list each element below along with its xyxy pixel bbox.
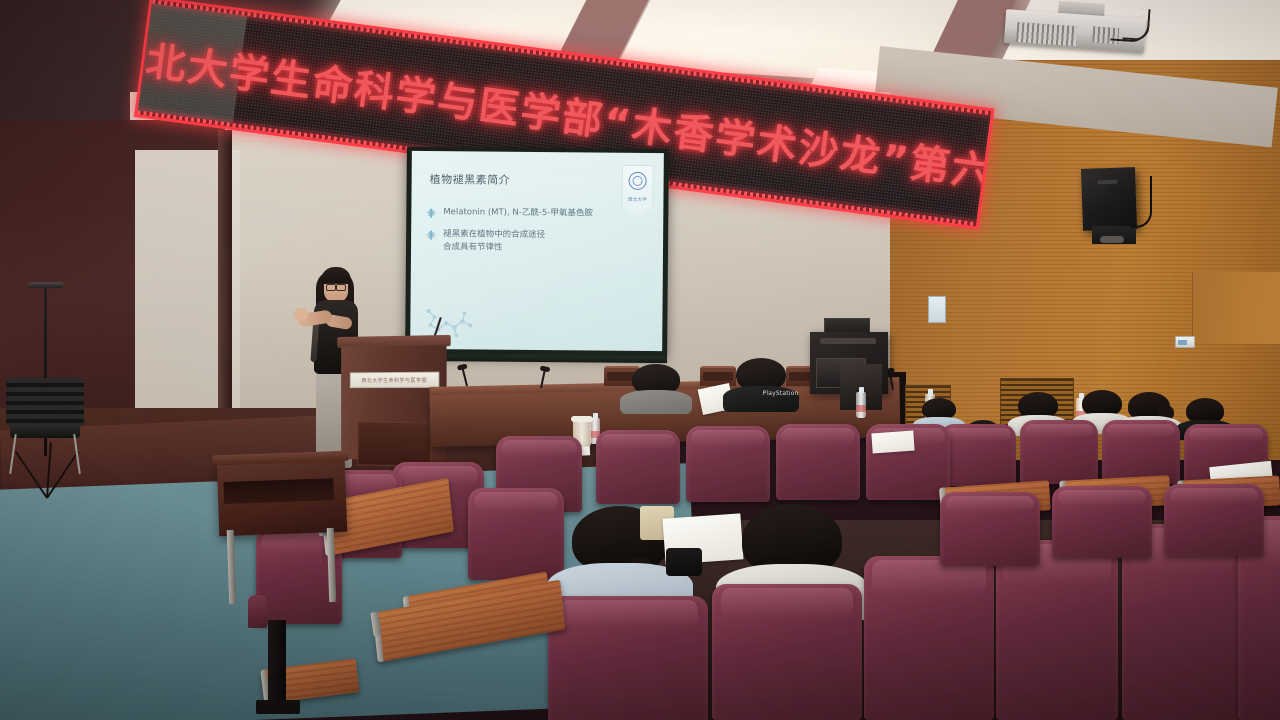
auditorium-seat-foreground[interactable] bbox=[548, 596, 708, 720]
speaker-mount-bracket bbox=[1092, 226, 1136, 244]
audience-member: PlayStation bbox=[736, 358, 786, 412]
wall-speaker-icon bbox=[1081, 167, 1137, 231]
person-shoulders: PlayStation bbox=[723, 386, 799, 412]
seat-top-band bbox=[1025, 424, 1094, 438]
side-table bbox=[217, 458, 348, 536]
seat-backrest bbox=[596, 430, 680, 504]
asterisk-bullet-icon bbox=[425, 207, 436, 218]
bullet-line: Melatonin (MT), N-乙酰-5-甲氧基色胺 bbox=[443, 206, 593, 220]
auditorium-seat-foreground[interactable] bbox=[712, 584, 862, 720]
water-bottle[interactable] bbox=[856, 392, 866, 418]
bullet-lines: Melatonin (MT), N-乙酰-5-甲氧基色胺 bbox=[443, 206, 593, 220]
auditorium-seat-foreground[interactable] bbox=[864, 556, 994, 720]
seat-top-band bbox=[781, 428, 855, 445]
seat-armrest bbox=[248, 595, 267, 628]
seat-backrest bbox=[864, 556, 994, 720]
speaker-port bbox=[1097, 180, 1117, 185]
slide-bullet-item: 褪黑素在植物中的合成途径 合成具有节律性 bbox=[425, 228, 653, 256]
wall-notice-sheet bbox=[928, 296, 946, 323]
side-table-shelf bbox=[223, 478, 334, 504]
seat-backrest bbox=[686, 426, 770, 502]
seat-top-band bbox=[1107, 424, 1176, 438]
seat-top-band bbox=[601, 434, 675, 450]
auditorium-seat[interactable] bbox=[596, 430, 680, 504]
chair-backrest bbox=[6, 378, 84, 426]
slide-surface: 植物褪黑素简介 Melatonin (MT), N-乙酰-5-甲氧基色胺 褪黑素… bbox=[410, 151, 664, 351]
seat-backrest bbox=[996, 540, 1118, 720]
thermostat-control[interactable] bbox=[1175, 336, 1195, 348]
presenter-hair-top bbox=[321, 267, 351, 284]
seat-pedestal-foot bbox=[256, 700, 300, 714]
seat-backrest bbox=[1020, 420, 1098, 484]
seat-backrest bbox=[468, 488, 564, 580]
projector-vent-grill bbox=[1016, 22, 1077, 46]
podium-name-plate: 西北大学生命科学与医学部 bbox=[350, 372, 440, 389]
seat-top-band bbox=[721, 588, 853, 618]
auditorium-seat[interactable] bbox=[686, 426, 770, 502]
auditorium-seat[interactable] bbox=[1052, 486, 1152, 558]
seat-top-band bbox=[1189, 428, 1263, 442]
seat-backrest bbox=[1102, 420, 1180, 484]
seat-backrest bbox=[940, 492, 1040, 566]
seat-top-band bbox=[691, 430, 765, 447]
auditorium-seat-foreground[interactable] bbox=[996, 540, 1118, 720]
auditorium-seat[interactable] bbox=[1020, 420, 1098, 484]
slide-bullet-item: Melatonin (MT), N-乙酰-5-甲氧基色胺 bbox=[425, 206, 653, 221]
speaker-cable bbox=[1130, 176, 1152, 228]
side-chair[interactable] bbox=[6, 378, 84, 474]
podium-plate-text: 西北大学生命科学与医学部 bbox=[361, 376, 427, 383]
seat-pedestal bbox=[268, 620, 286, 712]
lecture-hall-photo: 西北大学生命科学与医学部“木香学术沙龙”第六十一期 植物褪黑素简介 Melato… bbox=[0, 0, 1280, 720]
auditorium-seat[interactable] bbox=[776, 424, 860, 500]
chair-leg bbox=[73, 434, 81, 474]
auditorium-seat[interactable] bbox=[1164, 484, 1264, 556]
audience-member bbox=[632, 364, 680, 414]
seat-backrest bbox=[1164, 484, 1264, 556]
seat-backrest bbox=[548, 596, 708, 720]
bullet-line: 褪黑素在植物中的合成途径 bbox=[443, 228, 545, 242]
auditorium-seat[interactable] bbox=[1102, 420, 1180, 484]
university-seal-icon bbox=[629, 172, 647, 190]
person-shoulders bbox=[620, 390, 693, 414]
seat-top-band bbox=[501, 440, 577, 457]
molecule-graphic-icon bbox=[422, 303, 480, 340]
bullet-line: 合成具有节律性 bbox=[443, 242, 545, 256]
eyeglasses-icon bbox=[326, 283, 346, 288]
seat-backrest bbox=[712, 584, 862, 720]
chair-leg bbox=[9, 434, 17, 474]
seat-backrest bbox=[1052, 486, 1152, 558]
slide-bullet-list: Melatonin (MT), N-乙酰-5-甲氧基色胺 褪黑素在植物中的合成途… bbox=[425, 206, 653, 266]
seat-top-band bbox=[946, 496, 1034, 512]
handbag[interactable] bbox=[666, 548, 702, 576]
auditorium-seat[interactable] bbox=[468, 488, 564, 580]
head-table-chair[interactable] bbox=[700, 366, 736, 386]
seat-top-band bbox=[1058, 490, 1146, 506]
white-item-on-seat bbox=[871, 431, 914, 454]
auditorium-seat[interactable] bbox=[940, 424, 1016, 486]
auditorium-seat[interactable] bbox=[940, 492, 1040, 566]
university-logo-badge: 西北大学 bbox=[621, 165, 653, 217]
seat-top-band bbox=[558, 600, 699, 628]
slide-title: 植物褪黑素简介 bbox=[430, 171, 511, 188]
projection-screen: 植物褪黑素简介 Melatonin (MT), N-乙酰-5-甲氧基色胺 褪黑素… bbox=[405, 147, 669, 357]
playstation-shirt-logo: PlayStation bbox=[763, 390, 799, 397]
wall-door-panel bbox=[1192, 272, 1280, 344]
seat-top-band bbox=[474, 492, 558, 512]
seat-top-band bbox=[1170, 488, 1258, 504]
asterisk-bullet-icon bbox=[425, 229, 436, 240]
podium-lower-panel bbox=[358, 422, 432, 467]
university-name: 西北大学 bbox=[628, 197, 647, 203]
seat-top-band bbox=[945, 428, 1012, 442]
bullet-lines: 褪黑素在植物中的合成途径 合成具有节律性 bbox=[443, 228, 545, 255]
seat-backrest bbox=[776, 424, 860, 500]
chair-seat bbox=[10, 424, 80, 438]
seat-backrest bbox=[940, 424, 1016, 486]
